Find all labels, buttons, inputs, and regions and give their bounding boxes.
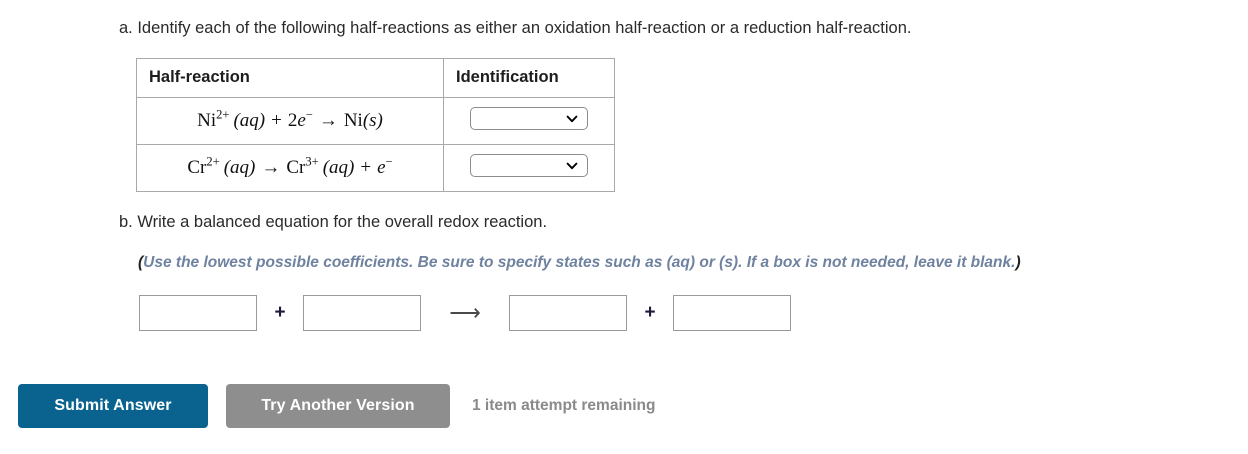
equation-2-electron: e: [377, 157, 385, 178]
equation-2-arrow: →: [261, 157, 280, 178]
equation-2-species-1: Cr: [187, 157, 206, 178]
try-another-version-button[interactable]: Try Another Version: [226, 384, 450, 428]
plus-operator-1: +: [257, 302, 303, 324]
equation-1-charge-1: 2+: [216, 108, 229, 122]
part-a-prompt: a. Identify each of the following half-r…: [119, 17, 911, 39]
equation-1-species-1: Ni: [197, 110, 216, 131]
equation-1-plus: +: [271, 110, 282, 131]
identification-select-2[interactable]: [470, 154, 588, 177]
reactant-1-input[interactable]: [139, 295, 257, 331]
reactant-2-input[interactable]: [303, 295, 421, 331]
equation-2-electron-charge: −: [386, 155, 393, 169]
part-b-prompt: b. Write a balanced equation for the ove…: [119, 211, 547, 233]
balanced-equation-row: + ⟶ +: [139, 294, 791, 332]
hint-close-paren: ): [1015, 254, 1020, 271]
equation-2-charge-1: 2+: [206, 155, 219, 169]
attempts-remaining-text: 1 item attempt remaining: [472, 397, 655, 415]
equation-1-state-2: (s): [363, 110, 383, 131]
footer-actions: Submit Answer Try Another Version 1 item…: [18, 384, 655, 428]
equation-1-electron: e: [297, 110, 305, 131]
column-header-half-reaction: Half-reaction: [137, 59, 444, 98]
table-row: Ni2+(aq)+2e−→Ni(s): [137, 98, 615, 145]
chevron-down-icon: [566, 113, 578, 125]
equation-1-state-1: (aq): [233, 110, 265, 131]
product-2-input[interactable]: [673, 295, 791, 331]
column-header-identification: Identification: [444, 59, 615, 98]
coefficient-hint: (Use the lowest possible coefficients. B…: [138, 252, 1021, 273]
half-reaction-table: Half-reaction Identification Ni2+(aq)+2e…: [136, 58, 615, 192]
table-header-row: Half-reaction Identification: [137, 59, 615, 98]
half-reaction-equation-1: Ni2+(aq)+2e−→Ni(s): [137, 98, 444, 145]
equation-2-species-2: Cr: [286, 157, 305, 178]
table-row: Cr2+(aq)→Cr3+(aq)+e−: [137, 145, 615, 192]
equation-2-charge-2: 3+: [305, 155, 318, 169]
equation-1-arrow: →: [319, 110, 338, 131]
submit-answer-button[interactable]: Submit Answer: [18, 384, 208, 428]
identification-select-1[interactable]: [470, 107, 588, 130]
product-1-input[interactable]: [509, 295, 627, 331]
reaction-arrow: ⟶: [421, 302, 509, 324]
identification-cell-2: [444, 145, 615, 192]
chevron-down-icon: [566, 160, 578, 172]
identification-cell-1: [444, 98, 615, 145]
equation-1-coefficient: 2: [288, 110, 298, 131]
equation-1-species-2: Ni: [344, 110, 363, 131]
assignment-page: a. Identify each of the following half-r…: [0, 0, 1248, 454]
equation-1-electron-charge: −: [306, 108, 313, 122]
plus-operator-2: +: [627, 302, 673, 324]
hint-text: Use the lowest possible coefficients. Be…: [143, 254, 1015, 271]
equation-2-state-1: (aq): [224, 157, 256, 178]
half-reaction-equation-2: Cr2+(aq)→Cr3+(aq)+e−: [137, 145, 444, 192]
equation-2-state-2: (aq): [323, 157, 355, 178]
equation-2-plus: +: [360, 157, 371, 178]
